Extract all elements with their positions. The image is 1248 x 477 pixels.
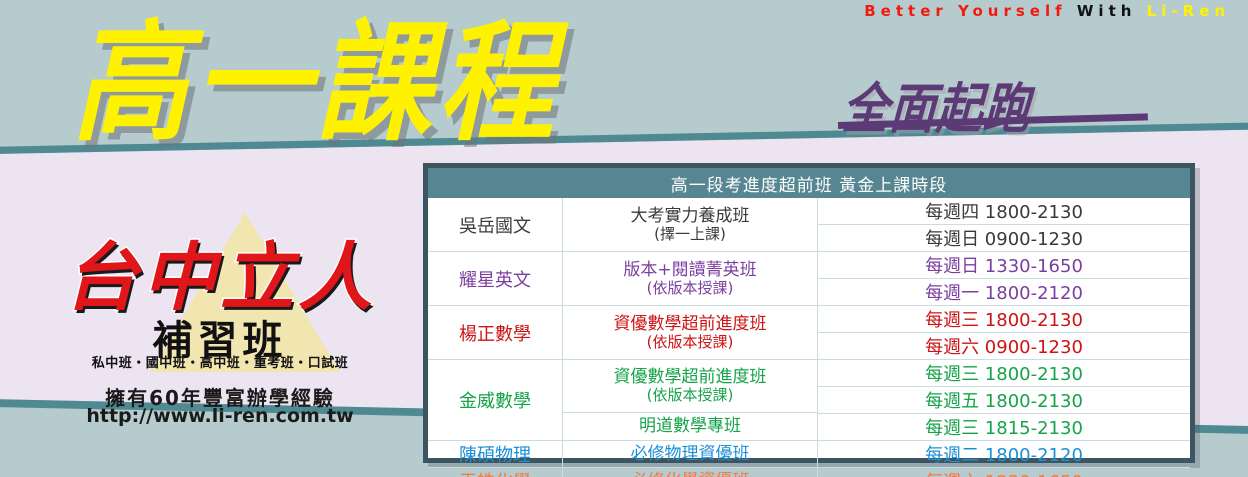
logo-website-url: http://www.li-ren.com.tw [30, 405, 410, 427]
table-row: 吳岳國文大考實力養成班(擇一上課)每週四 1800-2130每週日 0900-1… [428, 198, 1190, 251]
table-cell-teacher: 陳碩物理 [428, 441, 563, 467]
tagline-word-liren: Li-Ren [1147, 2, 1230, 20]
course-name-line1: 必修化學資優班 [631, 471, 750, 477]
table-cell-times: 每週三 1800-2130每週六 0900-1230 [818, 306, 1190, 359]
table-row: 耀星英文版本+閱讀菁英班(依版本授課)每週日 1330-1650每週一 1800… [428, 251, 1190, 305]
course-name-line1: 必修物理資優班 [631, 444, 750, 464]
table-cell-teacher: 耀星英文 [428, 252, 563, 305]
course-name-line1: 資優數學超前進度班(依版本授課) [614, 314, 767, 352]
table-cell-times: 每週日 1330-1650每週一 1800-2120 [818, 252, 1190, 305]
tagline-word-better: Better [864, 2, 948, 20]
tagline-word-yourself: Yourself [958, 2, 1067, 20]
schedule-table: 高一段考進度超前班 黃金上課時段 吳岳國文大考實力養成班(擇一上課)每週四 18… [423, 163, 1195, 463]
course-name-line2: (依版本授課) [614, 334, 767, 352]
class-time: 每週三 1815-2130 [818, 413, 1190, 440]
class-time: 每週六 0900-1230 [818, 332, 1190, 359]
class-time: 每週五 1800-2130 [818, 386, 1190, 413]
table-cell-teacher: 吳岳國文 [428, 198, 563, 251]
table-cell-teacher: 金威數學 [428, 360, 563, 440]
table-cell-times: 每週六 1330-1650 [818, 468, 1190, 477]
table-cell-teacher: 楊正數學 [428, 306, 563, 359]
class-time: 每週四 1800-2130 [818, 198, 1190, 224]
table-cell-course: 大考實力養成班(擇一上課) [563, 198, 818, 251]
table-cell-times: 每週四 1800-2130每週日 0900-1230 [818, 198, 1190, 251]
schedule-table-body: 吳岳國文大考實力養成班(擇一上課)每週四 1800-2130每週日 0900-1… [428, 198, 1190, 477]
class-time: 每週三 1800-2130 [818, 306, 1190, 332]
table-row: 楊正數學資優數學超前進度班(依版本授課)每週三 1800-2130每週六 090… [428, 305, 1190, 359]
tagline-word-with: With [1077, 2, 1137, 20]
course-name-line1: 大考實力養成班(擇一上課) [631, 206, 750, 244]
poster-root: Better Yourself With Li-Ren 高一課程 全面起跑 台中… [0, 0, 1248, 477]
class-time: 每週三 1800-2130 [818, 360, 1190, 386]
table-row: 陳碩物理必修物理資優班每週二 1800-2120 [428, 440, 1190, 467]
page-title: 高一課程 [72, 16, 560, 152]
course-name-line2: (依版本授課) [623, 280, 756, 298]
course-name: 資優數學超前進度班(依版本授課) [563, 306, 817, 359]
table-cell-times: 每週三 1800-2130每週五 1800-2130每週三 1815-2130 [818, 360, 1190, 440]
course-name: 必修化學資優班 [563, 468, 817, 477]
class-time: 每週日 0900-1230 [818, 224, 1190, 251]
class-time: 每週一 1800-2120 [818, 278, 1190, 305]
page-subtitle: 全面起跑 [840, 66, 1033, 144]
tagline: Better Yourself With Li-Ren [864, 2, 1230, 20]
class-time: 每週六 1330-1650 [818, 468, 1190, 477]
course-name: 版本+閱讀菁英班(依版本授課) [563, 252, 817, 305]
class-time: 每週二 1800-2120 [818, 441, 1190, 467]
course-name-line1: 資優數學超前進度班(依版本授課) [614, 367, 767, 405]
course-name: 明道數學專班 [563, 412, 817, 440]
table-cell-course: 資優數學超前進度班(依版本授課)明道數學專班 [563, 360, 818, 440]
table-cell-times: 每週二 1800-2120 [818, 441, 1190, 467]
course-name: 大考實力養成班(擇一上課) [563, 198, 817, 251]
schedule-table-header: 高一段考進度超前班 黃金上課時段 [428, 168, 1190, 198]
table-cell-course: 版本+閱讀菁英班(依版本授課) [563, 252, 818, 305]
table-cell-teacher: 王皓化學 [428, 468, 563, 477]
course-name: 必修物理資優班 [563, 441, 817, 467]
course-name-line1: 明道數學專班 [639, 416, 741, 436]
table-row: 金威數學資優數學超前進度班(依版本授課)明道數學專班每週三 1800-2130每… [428, 359, 1190, 440]
brand-logo: 台中立人 補習班 私中班・國中班・高中班・重考班・口試班 擁有60年豐富辦學經驗… [30, 212, 410, 422]
class-time: 每週日 1330-1650 [818, 252, 1190, 278]
course-name-line2: (擇一上課) [631, 226, 750, 244]
table-cell-course: 必修化學資優班 [563, 468, 818, 477]
table-cell-course: 必修物理資優班 [563, 441, 818, 467]
course-name: 資優數學超前進度班(依版本授課) [563, 360, 817, 412]
table-cell-course: 資優數學超前進度班(依版本授課) [563, 306, 818, 359]
table-row: 王皓化學必修化學資優班每週六 1330-1650 [428, 467, 1190, 477]
course-name-line2: (依版本授課) [614, 387, 767, 405]
course-name-line1: 版本+閱讀菁英班(依版本授課) [623, 260, 756, 298]
logo-class-list: 私中班・國中班・高中班・重考班・口試班 [30, 352, 410, 371]
